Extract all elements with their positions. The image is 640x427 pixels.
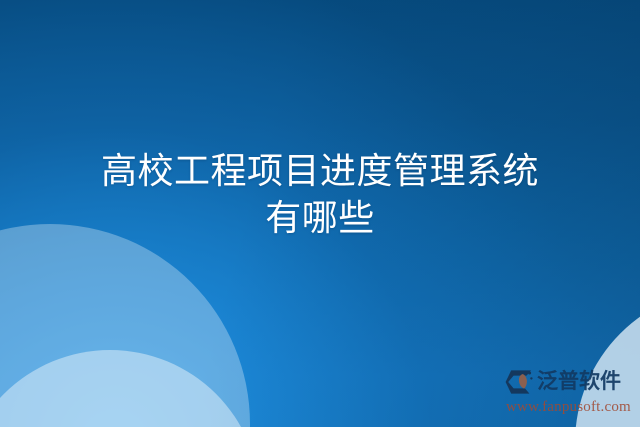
fanpu-hexagon-logo-icon bbox=[505, 369, 533, 395]
slide-canvas: 高校工程项目进度管理系统 有哪些 泛普软件 www.fanpusoft.com bbox=[0, 0, 640, 427]
watermark-logo-row: 泛普软件 bbox=[505, 368, 637, 396]
title-line-2: 有哪些 bbox=[28, 195, 612, 242]
title-line-1: 高校工程项目进度管理系统 bbox=[28, 148, 612, 195]
watermark-brand-name: 泛普软件 bbox=[537, 369, 621, 395]
page-title: 高校工程项目进度管理系统 有哪些 bbox=[0, 148, 640, 242]
watermark-logo: 泛普软件 www.fanpusoft.com bbox=[505, 368, 637, 420]
watermark-website: www.fanpusoft.com bbox=[506, 398, 637, 416]
